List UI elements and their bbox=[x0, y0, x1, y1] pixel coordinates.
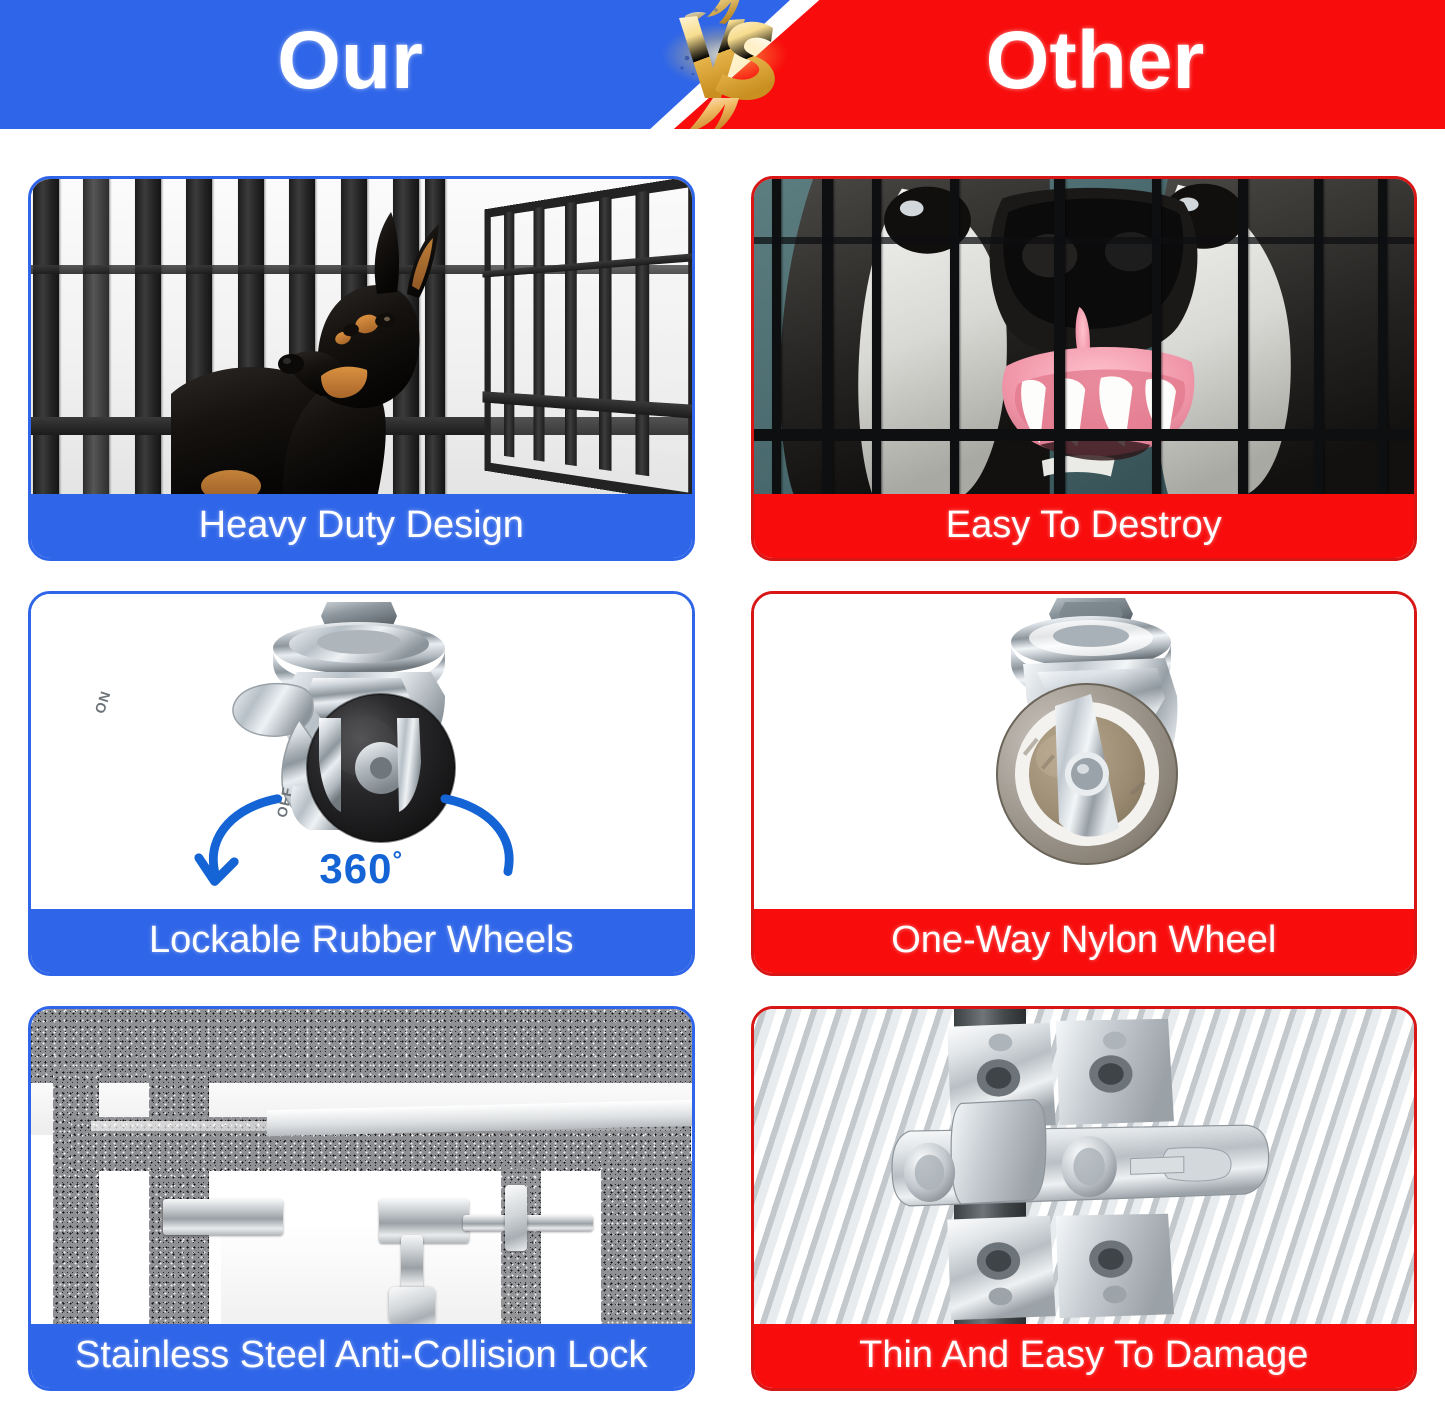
header-title-ours: Our bbox=[0, 0, 700, 129]
card-label-easy-to-destroy: Easy To Destroy bbox=[754, 494, 1415, 558]
image-thin-metal-latch bbox=[754, 1009, 1415, 1324]
annotation-360-degree: 360° bbox=[319, 845, 403, 893]
vs-badge bbox=[655, 0, 795, 129]
comparison-header: Our Other bbox=[0, 0, 1445, 129]
card-label-thin-and-easy-to-damage: Thin And Easy To Damage bbox=[754, 1324, 1415, 1388]
card-label-stainless-steel-anti-collision-lock: Stainless Steel Anti-Collision Lock bbox=[31, 1324, 692, 1388]
card-ours-stainless-steel-anti-collision-lock[interactable]: Stainless Steel Anti-Collision Lock bbox=[28, 1006, 695, 1391]
card-other-easy-to-destroy[interactable]: Easy To Destroy bbox=[751, 176, 1418, 561]
vs-flame-icon bbox=[655, 0, 795, 129]
image-doberman-heavy-cage bbox=[31, 179, 692, 494]
card-other-thin-and-easy-to-damage[interactable]: Thin And Easy To Damage bbox=[751, 1006, 1418, 1391]
image-nylon-caster-wheel bbox=[754, 594, 1415, 909]
image-stainless-steel-slide-bolt bbox=[31, 1009, 692, 1324]
nylon-caster-illustration bbox=[919, 598, 1249, 898]
image-lockable-rubber-caster: ON ON OFF 360° bbox=[31, 594, 692, 909]
comparison-grid: Heavy Duty Design bbox=[0, 129, 1445, 1404]
doberman-illustration bbox=[171, 198, 501, 494]
card-label-one-way-nylon-wheel: One-Way Nylon Wheel bbox=[754, 909, 1415, 973]
header-title-other: Other bbox=[745, 0, 1445, 129]
card-other-one-way-nylon-wheel[interactable]: One-Way Nylon Wheel bbox=[751, 591, 1418, 976]
card-ours-lockable-rubber-wheels[interactable]: ON ON OFF 360° Lockable Rubber Wheels bbox=[28, 591, 695, 976]
card-label-heavy-duty-design: Heavy Duty Design bbox=[31, 494, 692, 558]
image-husky-biting-wire bbox=[754, 179, 1415, 494]
card-ours-heavy-duty-design[interactable]: Heavy Duty Design bbox=[28, 176, 695, 561]
thin-latch-illustration bbox=[754, 1009, 1415, 1324]
card-label-lockable-rubber-wheels: Lockable Rubber Wheels bbox=[31, 909, 692, 973]
annotation-degree-symbol: ° bbox=[392, 847, 403, 874]
annotation-360-value: 360 bbox=[319, 845, 392, 892]
